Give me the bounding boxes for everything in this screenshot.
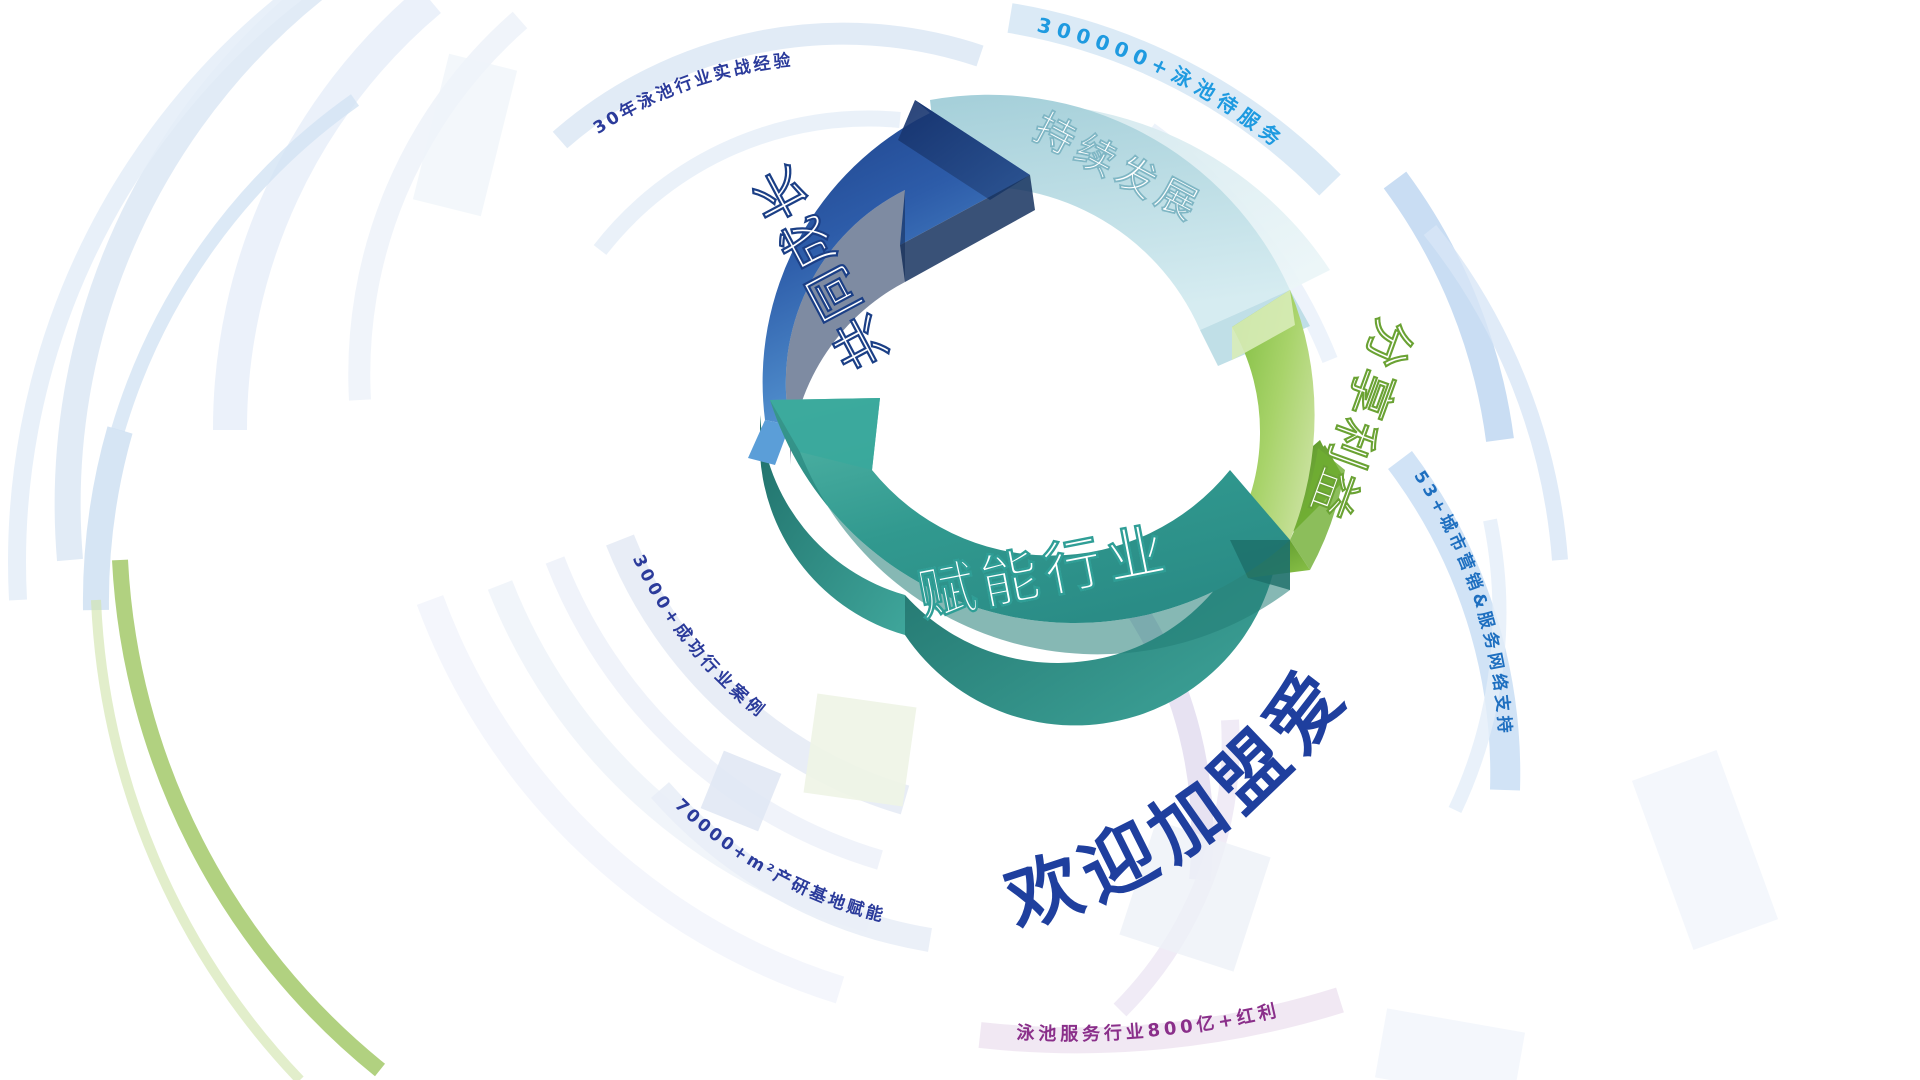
poster-canvas: 共同成长 持续发展 分享利益 赋能行业 30年泳池行业实战经验 300000+泳… [0, 0, 1920, 1080]
poster-graphic: 共同成长 持续发展 分享利益 赋能行业 30年泳池行业实战经验 300000+泳… [0, 0, 1920, 1080]
ring-segment-empower[interactable] [770, 398, 1290, 654]
arc-label-market: 泳池服务行业800亿+红利 [1016, 999, 1282, 1045]
arc-label-cases: 3000+成功行业案例 [628, 552, 771, 723]
